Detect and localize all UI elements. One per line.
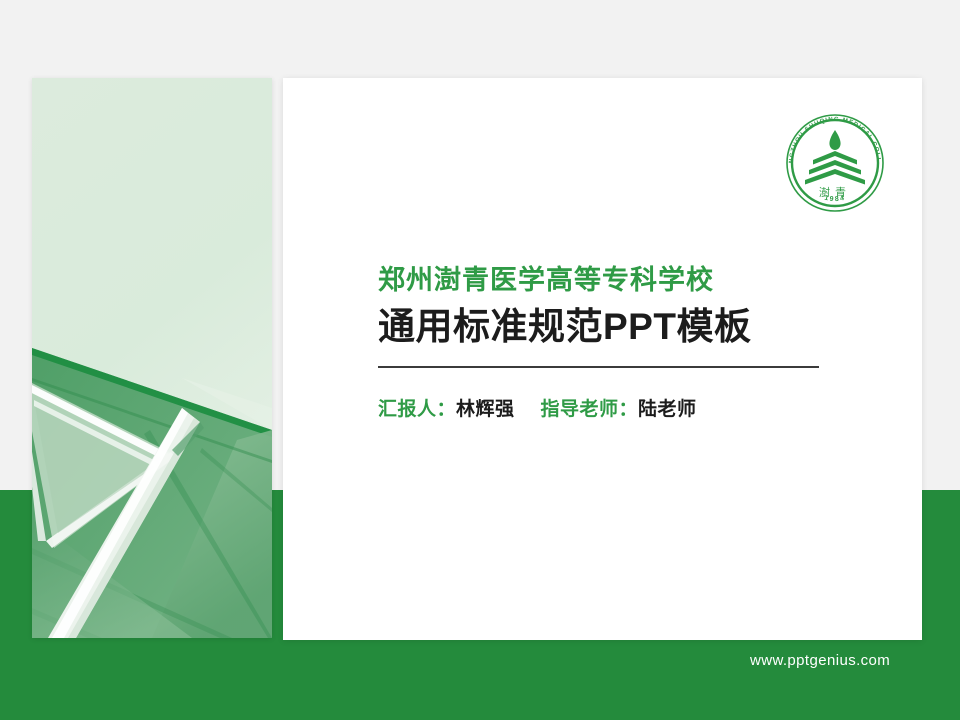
title-divider	[378, 366, 819, 368]
footer-url[interactable]: www.pptgenius.com	[750, 652, 890, 669]
advisor-label: 指导老师：	[541, 399, 639, 420]
page-title: 通用标准规范PPT模板	[378, 306, 838, 349]
green-architecture-ceiling-photo	[32, 78, 272, 638]
presenter-row: 汇报人：林辉强指导老师：陆老师	[378, 394, 838, 421]
seal-icon: ZHENGZHOU SHUQING MEDICAL COLLEGE 澍青 198…	[782, 110, 888, 216]
content-card: ZHENGZHOU SHUQING MEDICAL COLLEGE 澍青 198…	[283, 78, 922, 640]
organization-name: 郑州澍青医学高等专科学校	[378, 265, 838, 297]
title-block: 郑州澍青医学高等专科学校 通用标准规范PPT模板 汇报人：林辉强指导老师：陆老师	[378, 265, 838, 421]
university-seal-logo: ZHENGZHOU SHUQING MEDICAL COLLEGE 澍青 198…	[782, 110, 888, 216]
cover-photo-panel	[32, 78, 272, 638]
presentation-slide: ZHENGZHOU SHUQING MEDICAL COLLEGE 澍青 198…	[0, 0, 960, 720]
reporter-label: 汇报人：	[378, 399, 456, 420]
reporter-name: 林辉强	[456, 399, 515, 420]
advisor-name: 陆老师	[638, 399, 697, 420]
